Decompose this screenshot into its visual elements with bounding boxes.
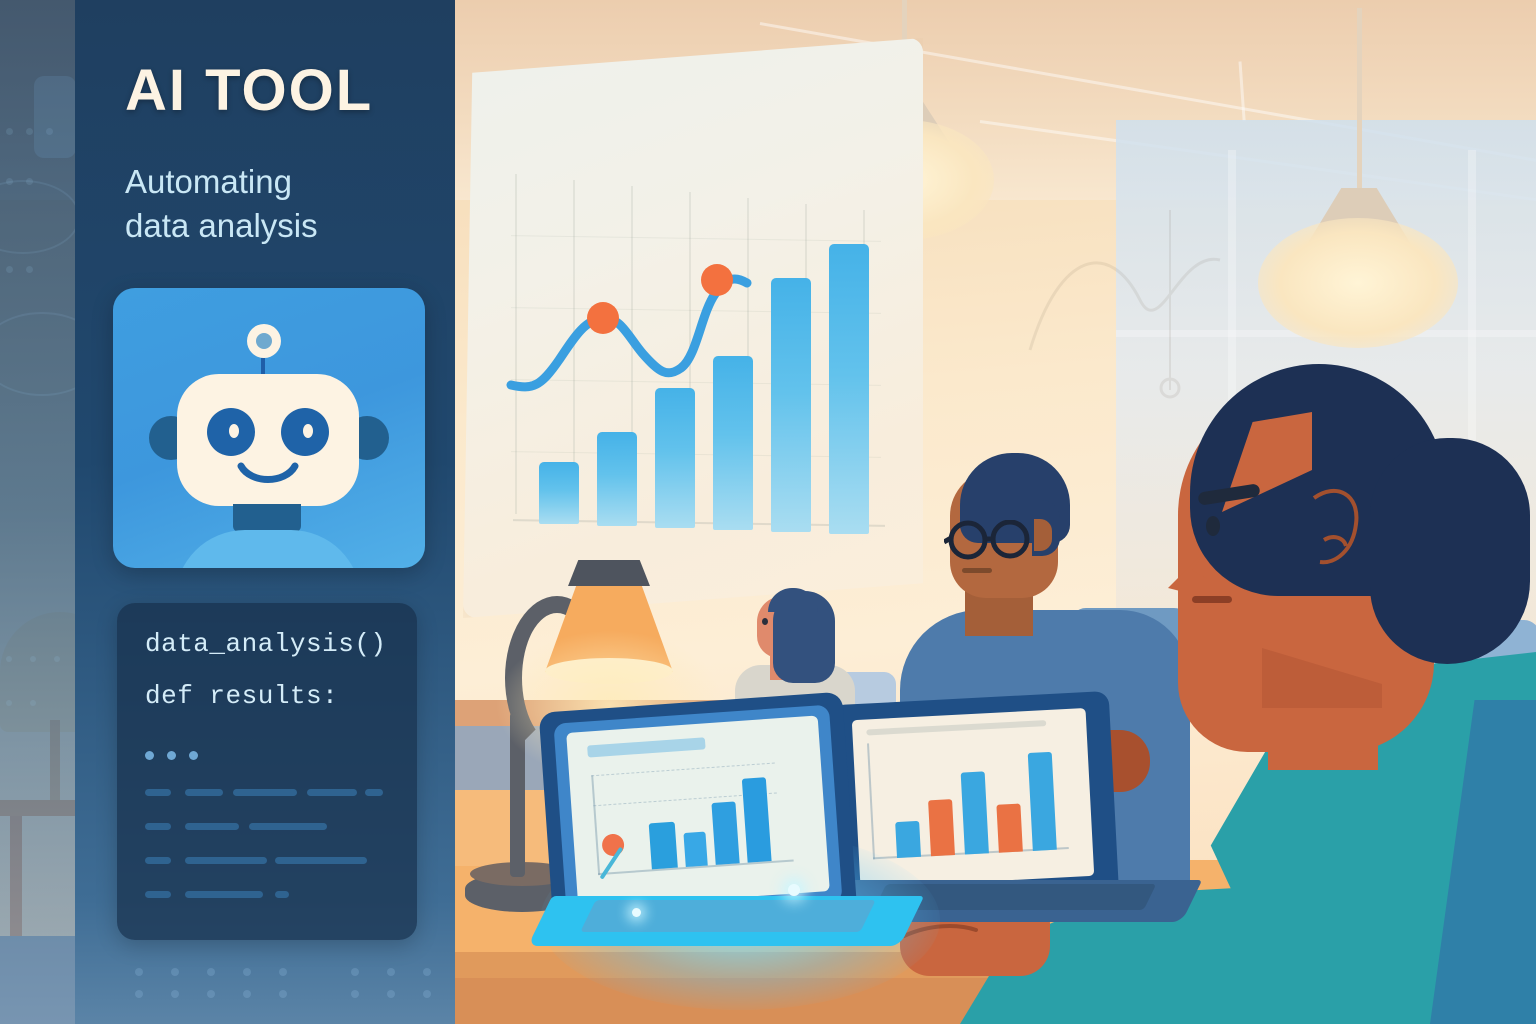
decor-dot — [30, 656, 36, 662]
code-placeholder — [307, 789, 357, 796]
pendant-cord — [1357, 8, 1362, 190]
chart-trend-line — [463, 38, 923, 618]
screen-bar-blue — [961, 771, 989, 854]
code-placeholder — [185, 823, 239, 830]
code-snippet-panel: data_analysis() def results: — [117, 603, 417, 940]
page-subtitle: Automating data analysis — [125, 160, 425, 247]
code-placeholder — [185, 857, 267, 864]
decor-dot — [54, 656, 60, 662]
page-title: AI TOOL — [125, 62, 455, 120]
decor-wave — [0, 180, 80, 254]
glasses-icon — [944, 520, 1054, 566]
screen-bar-blue — [1028, 752, 1057, 851]
decor-dot — [6, 656, 12, 662]
decor-dot — [207, 968, 215, 976]
screen-bar-orange — [928, 799, 955, 856]
code-placeholder — [145, 823, 171, 830]
screen-dashed-gridline — [591, 763, 775, 777]
decor-dot — [171, 990, 179, 998]
decor-dot — [26, 266, 33, 273]
screen-titlebar — [587, 737, 706, 757]
chart-data-marker — [587, 302, 619, 334]
decor-dot — [423, 990, 431, 998]
page-subtitle-line-1: Automating — [125, 160, 425, 204]
decor-dot — [423, 968, 431, 976]
sidebar-translucent-edge — [0, 0, 75, 1024]
code-placeholder — [185, 789, 223, 796]
code-ellipsis-dot — [189, 751, 198, 760]
robot-mascot-icon[interactable] — [113, 288, 425, 568]
woman-foreground-eye — [1206, 516, 1220, 536]
robot-eye-highlight — [303, 424, 313, 438]
robot-smile — [237, 462, 299, 488]
laptop-left-sparkle — [632, 908, 641, 917]
screen-bar — [742, 777, 772, 862]
screen-bar-orange — [996, 804, 1022, 853]
woman-foreground-mouth — [1192, 596, 1232, 603]
decor-dot — [207, 990, 215, 998]
decor-dot — [6, 700, 12, 706]
robot-neck — [233, 504, 301, 532]
decor-dot — [279, 968, 287, 976]
screen-bar — [649, 822, 678, 870]
decor-dot — [351, 968, 359, 976]
screen-axis-y — [867, 743, 875, 859]
decor-dot — [387, 990, 395, 998]
illustration-canvas: AI TOOL Automating data analysis data_an… — [0, 0, 1536, 1024]
screen-trend-stub — [594, 840, 647, 883]
code-placeholder — [275, 891, 289, 898]
page-subtitle-line-2: data analysis — [125, 204, 425, 248]
woman-foreground-hair-bun — [1370, 438, 1530, 664]
pendant-glow — [1258, 218, 1458, 348]
screen-bar — [683, 832, 707, 867]
woman-background-eye — [762, 618, 768, 625]
decor-dot — [135, 990, 143, 998]
code-ellipsis-dot — [145, 751, 154, 760]
decor-card — [34, 76, 76, 158]
screen-bar — [711, 801, 739, 865]
robot-body — [175, 530, 361, 568]
screen-titlebar — [866, 720, 1046, 735]
code-ellipsis-dot — [167, 751, 176, 760]
code-placeholder — [233, 789, 297, 796]
screen-bar-blue — [895, 821, 921, 858]
decor-dot — [351, 990, 359, 998]
code-line-2: def results: — [145, 681, 338, 711]
sidebar-decor-dotgrid — [135, 968, 435, 1024]
woman-foreground-ear — [1300, 480, 1380, 590]
chart-data-marker — [701, 264, 733, 296]
code-placeholder — [249, 823, 327, 830]
decor-dot — [135, 968, 143, 976]
decor-dot — [243, 990, 251, 998]
code-placeholder — [145, 857, 171, 864]
robot-antenna-core — [256, 333, 272, 349]
code-placeholder — [145, 891, 171, 898]
code-placeholder — [275, 857, 367, 864]
decor-dot — [6, 128, 13, 135]
decor-dot — [279, 990, 287, 998]
decor-dot — [243, 968, 251, 976]
code-line-1: data_analysis() — [145, 629, 387, 659]
laptop-left-screen — [566, 715, 830, 908]
laptop-left-keyboard[interactable] — [580, 900, 876, 932]
robot-eye-highlight — [229, 424, 239, 438]
code-placeholder — [145, 789, 171, 796]
man-mouth — [962, 568, 992, 573]
decor-dot — [26, 128, 33, 135]
whiteboard — [463, 38, 923, 618]
decor-dot — [171, 968, 179, 976]
code-placeholder — [185, 891, 263, 898]
laptop-left-sparkle — [788, 884, 800, 896]
code-placeholder — [365, 789, 383, 796]
decor-dot — [387, 968, 395, 976]
decor-dot — [6, 266, 13, 273]
decor-dot — [30, 700, 36, 706]
